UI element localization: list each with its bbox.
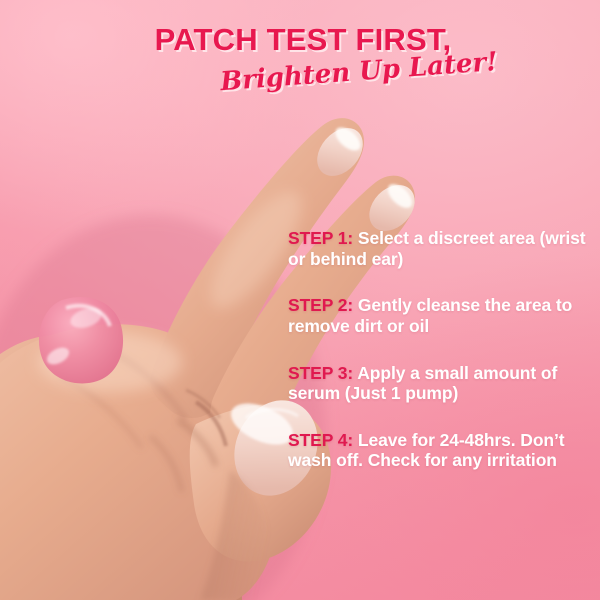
serum-droplet [39, 297, 123, 383]
step-label: STEP 1: [288, 228, 353, 248]
step-label: STEP 4: [288, 430, 353, 450]
step-item: STEP 2: Gently cleanse the area to remov… [288, 295, 588, 336]
step-item: STEP 1: Select a discreet area (wrist or… [288, 228, 588, 269]
step-item: STEP 4: Leave for 24-48hrs. Don’t wash o… [288, 430, 588, 471]
step-item: STEP 3: Apply a small amount of serum (J… [288, 363, 588, 404]
step-label: STEP 3: [288, 363, 353, 383]
promo-graphic: PATCH TEST FIRST, Brighten Up Later! STE… [0, 0, 600, 600]
steps-list: STEP 1: Select a discreet area (wrist or… [288, 228, 588, 471]
step-label: STEP 2: [288, 295, 353, 315]
